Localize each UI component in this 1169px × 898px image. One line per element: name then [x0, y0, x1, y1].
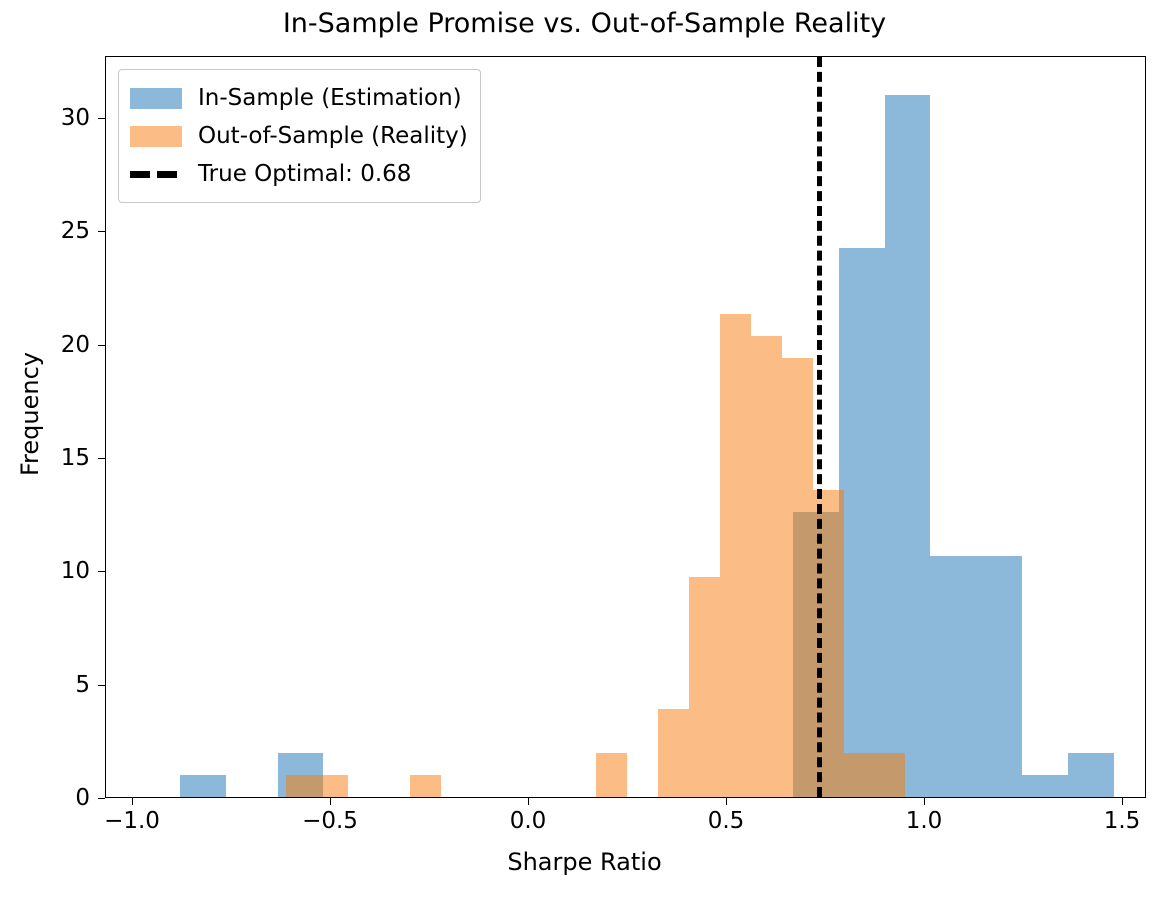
histogram-bar-overlap: [885, 753, 906, 797]
x-tick-label-0.0: 0.0: [510, 808, 547, 834]
histogram-bar-in-sample: [180, 775, 226, 797]
histogram-bar-out-of-sample: [596, 753, 627, 797]
x-axis-label: Sharpe Ratio: [0, 848, 1169, 876]
legend-label-true-optimal: True Optimal: 0.68: [198, 163, 411, 186]
legend-label-in-sample: In-Sample (Estimation): [198, 87, 462, 110]
histogram-bar-out-of-sample: [689, 577, 720, 797]
x-tick--1.0: [132, 798, 133, 805]
dashed-line-icon: [130, 164, 182, 185]
histogram-bar-in-sample: [976, 556, 1022, 797]
legend-swatch-icon-in-sample: [130, 88, 182, 109]
y-tick-5: [98, 685, 105, 686]
histogram-bar: [885, 95, 906, 797]
histogram-bar-out-of-sample: [410, 775, 441, 797]
y-tick-label-30: 30: [0, 105, 90, 131]
x-tick-0.0: [528, 798, 529, 805]
histogram-bar-overlap: [875, 753, 885, 797]
histogram-bar-out-of-sample: [720, 314, 751, 797]
legend-label-out-of-sample: Out-of-Sample (Reality): [198, 125, 468, 148]
histogram-bar-overlap: [844, 753, 875, 797]
y-tick-label-0: 0: [0, 785, 90, 811]
histogram-bar-in-sample: [1022, 775, 1068, 797]
x-tick-label-1.5: 1.5: [1104, 808, 1141, 834]
chart-title: In-Sample Promise vs. Out-of-Sample Real…: [0, 8, 1169, 39]
y-tick-20: [98, 345, 105, 346]
histogram-bar-out-of-sample: [782, 358, 793, 797]
y-tick-25: [98, 231, 105, 232]
x-tick-1.0: [924, 798, 925, 805]
histogram-bar-out-of-sample: [751, 336, 782, 797]
legend-item-true-optimal[interactable]: True Optimal: 0.68: [130, 155, 468, 193]
x-tick-label--1.0: −1.0: [104, 808, 160, 834]
histogram-bar-out-of-sample: [658, 709, 689, 797]
reference-line-true-optimal: [817, 57, 822, 797]
chart-legend[interactable]: In-Sample (Estimation) Out-of-Sample (Re…: [118, 69, 481, 203]
y-tick-label-5: 5: [0, 672, 90, 698]
histogram-bar-overlap: [286, 775, 317, 797]
legend-swatch-icon-out-of-sample: [130, 126, 182, 147]
figure-canvas: In-Sample Promise vs. Out-of-Sample Real…: [0, 0, 1169, 898]
x-tick-0.5: [726, 798, 727, 805]
x-tick-1.5: [1122, 798, 1123, 805]
y-tick-0: [98, 798, 105, 799]
x-tick--0.5: [330, 798, 331, 805]
histogram-bar-in-sample: [278, 753, 287, 797]
histogram-bar-out-of-sample: [323, 775, 348, 797]
y-tick-label-15: 15: [0, 445, 90, 471]
x-tick-label-1.0: 1.0: [906, 808, 943, 834]
histogram-bar-overlap: [793, 512, 812, 797]
histogram-bar-in-sample: [905, 95, 930, 797]
y-tick-15: [98, 458, 105, 459]
y-axis-label: Frequency: [16, 264, 44, 564]
histogram-bar: [844, 248, 875, 797]
y-tick-label-20: 20: [0, 332, 90, 358]
histogram-bar-in-sample: [930, 556, 976, 797]
y-tick-label-25: 25: [0, 218, 90, 244]
x-tick-label--0.5: −0.5: [302, 808, 358, 834]
histogram-bar: [875, 248, 885, 797]
legend-item-in-sample[interactable]: In-Sample (Estimation): [130, 79, 468, 117]
y-tick-30: [98, 118, 105, 119]
legend-item-out-of-sample[interactable]: Out-of-Sample (Reality): [130, 117, 468, 155]
y-tick-10: [98, 571, 105, 572]
x-tick-label-0.5: 0.5: [708, 808, 745, 834]
y-tick-label-10: 10: [0, 558, 90, 584]
histogram-bar-in-sample: [1068, 753, 1114, 797]
